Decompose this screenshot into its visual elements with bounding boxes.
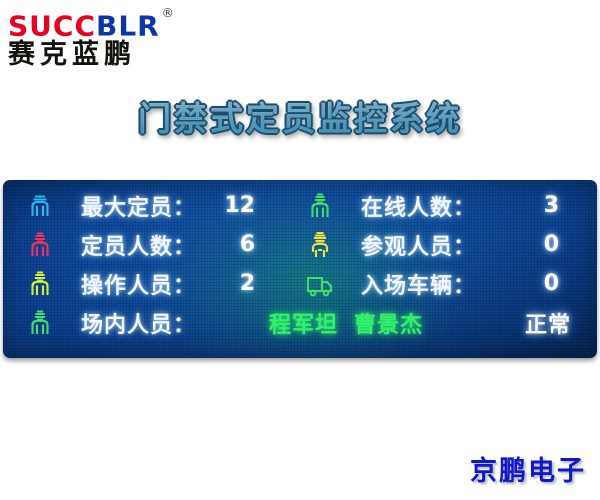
led-display-panel: 最大定员： 12 在线人数： 3 xyxy=(3,180,597,358)
status-badge: 正常 xyxy=(525,307,597,339)
led-cell-online-count: 在线人数： 3 xyxy=(293,190,597,222)
table-row: 定员人数： 6 参观人员： 0 xyxy=(3,225,597,264)
led-cell-max-capacity: 最大定员： 12 xyxy=(3,190,293,222)
logo-wordmark-succ: SUCC xyxy=(8,9,96,42)
person-icon xyxy=(25,230,55,260)
table-row-onsite: 场内人员： 程军坦 曹景杰 正常 xyxy=(3,303,597,342)
led-label: 参观人员： xyxy=(361,229,476,261)
table-row: 最大定员： 12 在线人数： 3 xyxy=(3,186,597,225)
registered-trademark-icon: ® xyxy=(162,6,175,20)
person-icon xyxy=(305,191,335,221)
led-value: 6 xyxy=(240,232,293,257)
person-worker-icon xyxy=(305,230,335,260)
onsite-name: 程军坦 xyxy=(269,307,338,339)
led-label: 入场车辆： xyxy=(361,268,476,300)
logo-wordmark: SUCCBLR® xyxy=(8,6,218,38)
led-label: 定员人数： xyxy=(81,229,196,261)
onsite-name: 曹景杰 xyxy=(354,307,423,339)
led-cell-assigned-count: 定员人数： 6 xyxy=(3,229,293,261)
table-row: 操作人员： 2 入场车辆： 0 xyxy=(3,264,597,303)
led-cell-onsite-label: 场内人员： xyxy=(3,307,253,339)
led-label-onsite: 场内人员： xyxy=(81,307,196,339)
led-value: 3 xyxy=(544,193,597,218)
led-cell-visitor-count: 参观人员： 0 xyxy=(293,229,597,261)
footer-company-name: 京鹏电子 xyxy=(470,449,586,488)
logo-chinese-name: 赛克蓝鹏 xyxy=(8,39,218,71)
led-value: 0 xyxy=(544,271,597,296)
led-cell-onsite-names: 程军坦 曹景杰 正常 xyxy=(253,307,597,339)
page-title: 门禁式定员监控系统 xyxy=(0,92,600,140)
person-hat-icon xyxy=(25,191,55,221)
person-icon xyxy=(25,269,55,299)
led-label: 操作人员： xyxy=(81,268,196,300)
brand-logo: SUCCBLR® 赛克蓝鹏 xyxy=(8,6,218,72)
led-label: 最大定员： xyxy=(81,190,196,222)
logo-wordmark-blr: BLR xyxy=(96,9,160,42)
led-label: 在线人数： xyxy=(361,190,476,222)
led-value: 2 xyxy=(240,271,293,296)
truck-icon xyxy=(305,269,335,299)
led-cell-vehicle-count: 入场车辆： 0 xyxy=(293,268,597,300)
led-cell-operator-count: 操作人员： 2 xyxy=(3,268,293,300)
led-value: 12 xyxy=(224,193,293,218)
person-icon xyxy=(25,308,55,338)
led-value: 0 xyxy=(544,232,597,257)
led-rows: 最大定员： 12 在线人数： 3 xyxy=(3,180,597,342)
